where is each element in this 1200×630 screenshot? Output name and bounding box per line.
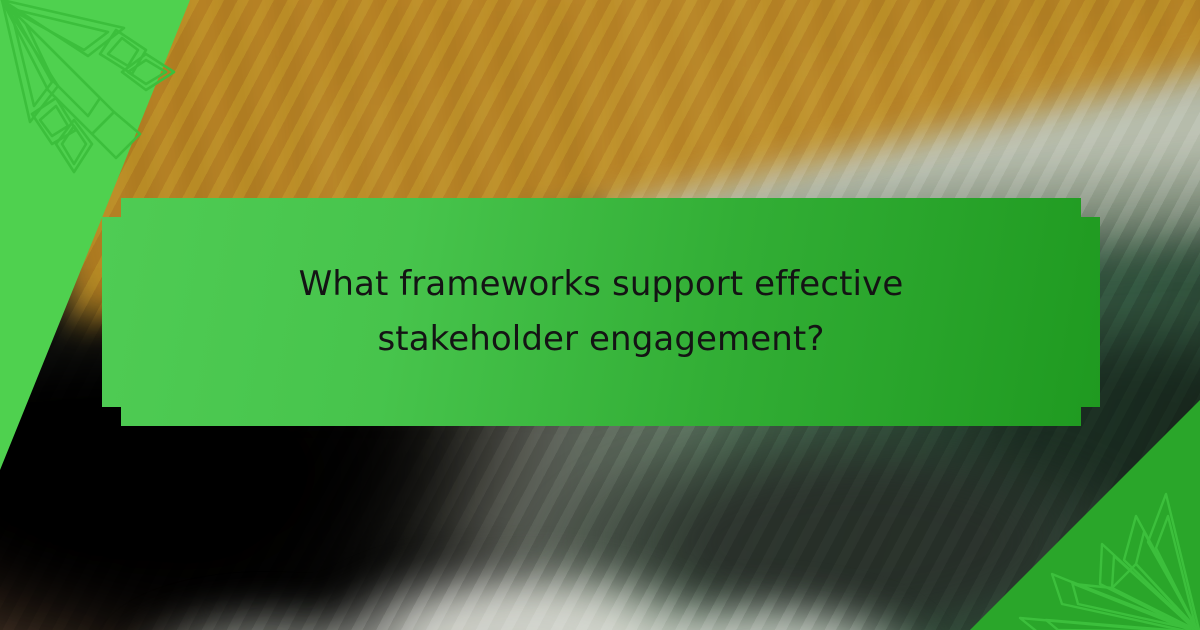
headline-banner: What frameworks support effective stakeh… — [102, 198, 1100, 426]
social-card: What frameworks support effective stakeh… — [0, 0, 1200, 630]
headline-text: What frameworks support effective stakeh… — [271, 257, 931, 367]
